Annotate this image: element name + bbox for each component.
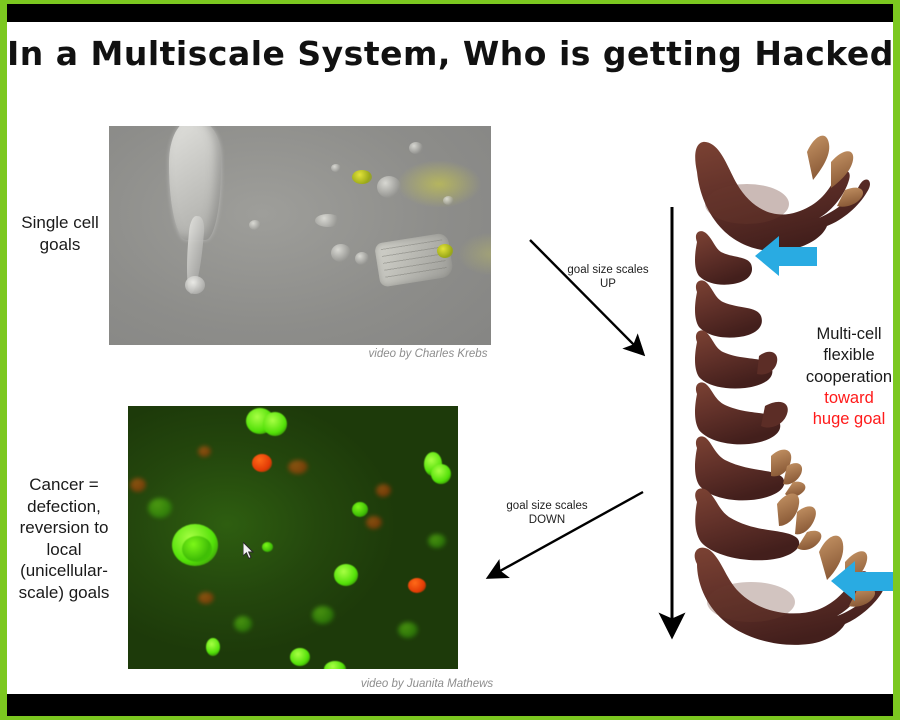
- slide-canvas: In a Multiscale System, Who is getting H…: [0, 0, 900, 720]
- debris-particle: [315, 214, 341, 227]
- scales-down-line-2: DOWN: [494, 513, 600, 527]
- fluorescent-cell-green: [263, 412, 287, 436]
- letterbox-bar-top: [7, 4, 893, 22]
- label-cancer-line-1: Cancer =: [9, 474, 119, 496]
- highlight-arrow-bottom: [831, 561, 893, 601]
- fluorescent-cell-green: [334, 564, 358, 586]
- debris-particle: [331, 164, 341, 172]
- fluorescent-cell-red: [252, 454, 272, 472]
- scales-down-line-1: goal size scales: [494, 499, 600, 513]
- green-alga-cell: [437, 244, 453, 258]
- fluorescent-cell-red: [288, 460, 308, 474]
- label-cancer-definition: Cancer = defection, reversion to local (…: [9, 474, 119, 603]
- credit-juanita-mathews: video by Juanita Mathews: [257, 678, 597, 690]
- fluorescent-cell-green: [148, 498, 172, 518]
- debris-particle: [355, 252, 369, 265]
- fluorescent-cell-green: [324, 661, 346, 669]
- fluorescent-cell-green: [206, 638, 220, 656]
- fluorescent-cell-red: [366, 516, 382, 529]
- fluorescent-cell-red: [130, 478, 146, 492]
- fluorescent-cell-green: [431, 464, 451, 484]
- fluorescent-cell-red: [408, 578, 426, 593]
- label-multicell-cooperation: Multi-cell flexible cooperation toward h…: [799, 324, 899, 430]
- slide-title: In a Multiscale System, Who is getting H…: [7, 34, 893, 73]
- fluorescent-cell-green: [312, 606, 334, 624]
- label-single-cell-goals: Single cell goals: [9, 212, 111, 255]
- fluorescent-cell-red: [198, 446, 211, 457]
- debris-particle: [443, 196, 454, 205]
- ciliate-holdfast: [185, 276, 205, 294]
- fluorescent-cell-green: [352, 502, 368, 517]
- label-multicell-toward: toward: [799, 388, 899, 409]
- label-cancer-line-5: (unicellular-: [9, 560, 119, 582]
- fluorescent-cell-red: [198, 592, 214, 604]
- letterbox-bar-bottom: [7, 694, 893, 716]
- label-goal-size-scales-up: goal size scales UP: [555, 263, 661, 292]
- diatom-cell: [374, 232, 454, 287]
- limb-stage-4-elongating: [695, 382, 788, 444]
- green-alga-cell: [352, 170, 372, 184]
- label-multicell-line-1: Multi-cell: [799, 324, 899, 345]
- ciliate-organism: [163, 126, 225, 298]
- label-cancer-line-6: scale) goals: [9, 582, 119, 604]
- credit-charles-krebs: video by Charles Krebs: [293, 348, 563, 360]
- fluorescent-cell-green: [398, 622, 418, 638]
- fluorescent-cell-green: [428, 534, 446, 548]
- limb-stage-intact-top: [695, 136, 870, 252]
- label-multicell-huge-goal: huge goal: [799, 409, 899, 430]
- fluorescent-cell-green: [290, 648, 310, 666]
- limb-stage-2-bud: [695, 280, 762, 337]
- debris-particle: [331, 244, 351, 262]
- fluorescent-cell-red: [376, 484, 391, 497]
- fluorescent-cell-green: [234, 616, 252, 632]
- cancer-fluorescence-panel: [128, 406, 458, 669]
- label-single-cell-line-2: goals: [9, 234, 111, 256]
- limb-stage-1-bud: [695, 231, 752, 285]
- limb-stage-3-elongating: [695, 330, 777, 388]
- label-cancer-line-4: local: [9, 539, 119, 561]
- single-cell-microscopy-panel: [109, 126, 491, 345]
- fluorescent-cell-green: [262, 542, 273, 552]
- debris-particle: [249, 220, 261, 230]
- label-cancer-line-2: defection,: [9, 496, 119, 518]
- arrow-goal-size-scales-up: [530, 240, 641, 352]
- debris-particle: [409, 142, 423, 154]
- label-goal-size-scales-down: goal size scales DOWN: [494, 499, 600, 528]
- scales-up-line-2: UP: [555, 277, 661, 291]
- highlight-arrow-top: [755, 236, 817, 276]
- mouse-cursor: [243, 542, 255, 560]
- limb-stage-5-digits-emerging: [695, 436, 805, 500]
- label-multicell-line-2: flexible: [799, 345, 899, 366]
- fluorescent-cell-green: [182, 536, 212, 562]
- scales-up-line-1: goal size scales: [555, 263, 661, 277]
- limb-stage-6-digits-formed: [695, 488, 821, 560]
- label-multicell-line-3: cooperation: [799, 367, 899, 388]
- limb-stage-full-regenerated: [695, 536, 884, 645]
- debris-particle: [377, 176, 401, 198]
- label-cancer-line-3: reversion to: [9, 517, 119, 539]
- label-single-cell-line-1: Single cell: [9, 212, 111, 234]
